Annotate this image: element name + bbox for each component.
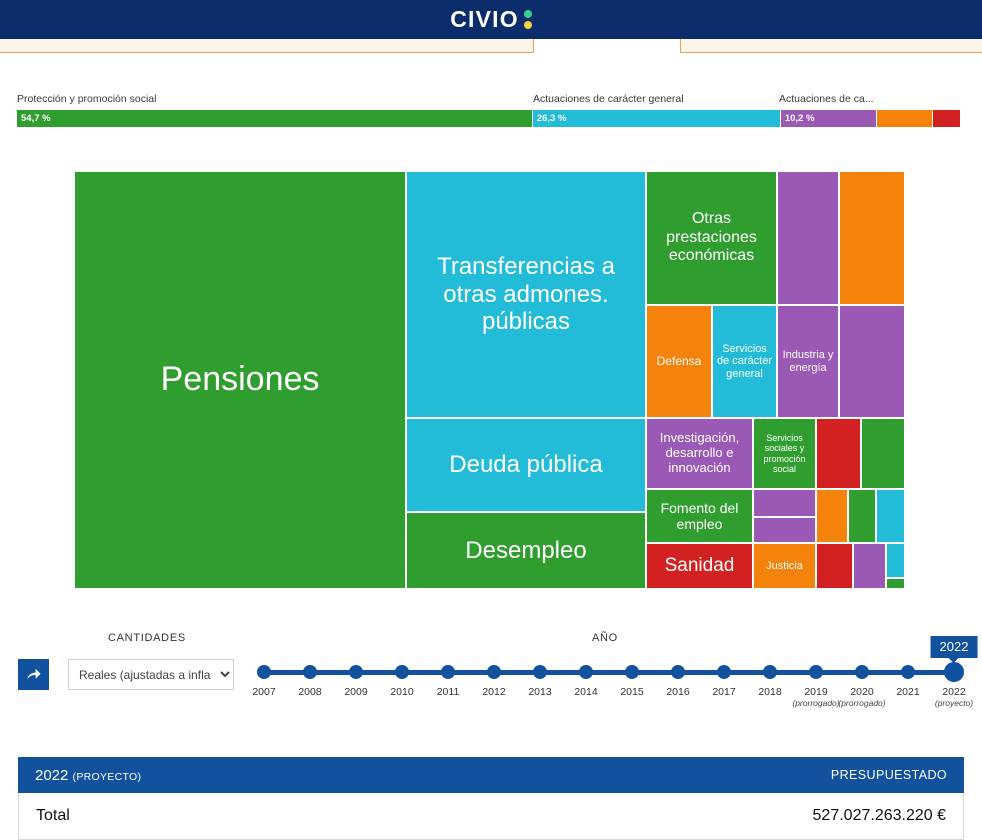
timeline-year-label-2022[interactable]: 2022(proyecto) (916, 686, 982, 708)
treemap-cell-label: Justicia (756, 560, 813, 573)
percent-segment-1[interactable]: 26,3 % (533, 110, 781, 127)
treemap-cell-investigaci-n-desarrollo-e-innovaci-n[interactable]: Investigación, desarrollo e innovación (646, 418, 753, 489)
percent-bar: 54,7 %26,3 %10,2 % (17, 110, 960, 127)
treemap-cell-servicios-de-car-cter-general[interactable]: Servicios de carácter general (712, 305, 777, 418)
percent-segment-value: 10,2 % (781, 113, 815, 124)
percent-bar-section: Protección y promoción socialActuaciones… (17, 93, 960, 127)
treemap-cell-justicia[interactable]: Justicia (753, 543, 816, 589)
timeline-dot-2018[interactable] (763, 665, 777, 679)
timeline-tooltip: 2022 (931, 636, 978, 658)
percent-bar-labels: Protección y promoción socialActuaciones… (17, 93, 960, 107)
treemap-cell-industria-y-energ-a[interactable]: Industria y energía (777, 305, 839, 418)
timeline-dot-2011[interactable] (441, 665, 455, 679)
treemap-cell-label: Servicios sociales y promoción social (756, 433, 813, 474)
summary-column-header: PRESUPUESTADO (831, 768, 947, 782)
treemap-cell-pensiones[interactable]: Pensiones (74, 171, 406, 589)
treemap-cell-label: Pensiones (77, 360, 403, 399)
treemap-cell-20[interactable] (876, 489, 905, 543)
timeline-dot-2012[interactable] (487, 665, 501, 679)
table-row[interactable]: Total527.027.263.220 € (18, 793, 964, 840)
treemap-cell-18[interactable] (816, 489, 848, 543)
timeline-track (264, 670, 954, 675)
treemap-cell-label: Transferencias a otras admones. públicas (409, 253, 643, 336)
civio-logo-text: CIVIO (450, 8, 519, 31)
timeline-dot-2021[interactable] (901, 665, 915, 679)
summary-year: 2022 (PROYECTO) (35, 767, 141, 784)
percent-label-2: Actuaciones de ca... (779, 93, 874, 105)
treemap-cell-label: Sanidad (649, 555, 750, 577)
share-arrow-icon (25, 666, 42, 683)
treemap-cell-otras-prestaciones-econ-micas[interactable]: Otras prestaciones económicas (646, 171, 777, 305)
table-row-amount: 527.027.263.220 € (813, 807, 946, 825)
tab-panel-left[interactable] (0, 39, 534, 53)
site-header: CIVIO (0, 0, 982, 39)
tab-panel-right[interactable] (680, 39, 982, 53)
treemap-cell-26[interactable] (886, 578, 905, 589)
timeline-dot-2010[interactable] (395, 665, 409, 679)
timeline-year-note: (prorrogado) (824, 698, 900, 708)
page-root: CIVIO Protección y promoción socialActua… (0, 0, 982, 840)
timeline-dot-2009[interactable] (349, 665, 363, 679)
treemap-chart: PensionesTransferencias a otras admones.… (74, 171, 905, 589)
share-button[interactable] (18, 659, 49, 690)
treemap-cell-label: Fomento del empleo (649, 500, 750, 532)
treemap-cell-servicios-sociales-y-promoci-n-social[interactable]: Servicios sociales y promoción social (753, 418, 816, 489)
summary-year-note: (PROYECTO) (73, 771, 142, 783)
summary-table-body: Total527.027.263.220 € (18, 793, 964, 840)
year-timeline[interactable]: 2007200820092010201120122013201420152016… (250, 636, 982, 716)
treemap-cell-16[interactable] (753, 489, 816, 517)
timeline-dot-2015[interactable] (625, 665, 639, 679)
treemap-cell-13[interactable] (816, 418, 861, 489)
cantidades-label: CANTIDADES (108, 632, 186, 644)
treemap-cell-24[interactable] (853, 543, 886, 589)
treemap-cell-label: Otras prestaciones económicas (649, 210, 774, 265)
treemap-cell-label: Desempleo (409, 537, 643, 565)
timeline-year-note: (proyecto) (916, 698, 982, 708)
percent-segment-2[interactable]: 10,2 % (781, 110, 877, 127)
treemap-cell-19[interactable] (848, 489, 876, 543)
treemap-cell-14[interactable] (861, 418, 905, 489)
treemap-cell-defensa[interactable]: Defensa (646, 305, 712, 418)
treemap-cell-25[interactable] (886, 543, 905, 578)
percent-segment-0[interactable]: 54,7 % (17, 110, 533, 127)
timeline-dot-2014[interactable] (579, 665, 593, 679)
treemap-cell-desempleo[interactable]: Desempleo (406, 512, 646, 589)
treemap-cell-label: Industria y energía (780, 349, 836, 374)
treemap-cell-fomento-del-empleo[interactable]: Fomento del empleo (646, 489, 753, 543)
summary-table: 2022 (PROYECTO) PRESUPUESTADO Total527.0… (18, 757, 964, 840)
percent-segment-value: 54,7 % (17, 113, 51, 124)
percent-segment-4[interactable] (933, 110, 960, 127)
percent-label-0: Protección y promoción social (17, 93, 156, 105)
tab-strip-row (0, 39, 982, 53)
percent-segment-value: 26,3 % (533, 113, 567, 124)
summary-table-header: 2022 (PROYECTO) PRESUPUESTADO (18, 757, 964, 793)
amount-type-select[interactable]: Reales (ajustadas a inflación)Nominales (68, 659, 234, 690)
timeline-dot-2016[interactable] (671, 665, 685, 679)
timeline-dot-2019[interactable] (809, 665, 823, 679)
treemap-cell-deuda-p-blica[interactable]: Deuda pública (406, 418, 646, 512)
timeline-dot-2013[interactable] (533, 665, 547, 679)
treemap-cell-17[interactable] (753, 517, 816, 543)
civio-logo-dots (524, 10, 532, 29)
yellow-dot-icon (524, 21, 532, 29)
timeline-dot-2017[interactable] (717, 665, 731, 679)
timeline-dot-2022[interactable] (944, 662, 964, 682)
treemap-cell-sanidad[interactable]: Sanidad (646, 543, 753, 589)
summary-year-value: 2022 (35, 767, 68, 784)
percent-label-1: Actuaciones de carácter general (533, 93, 684, 105)
timeline-dot-2008[interactable] (303, 665, 317, 679)
timeline-dot-2007[interactable] (257, 665, 271, 679)
timeline-dot-2020[interactable] (855, 665, 869, 679)
table-row-label: Total (36, 807, 70, 825)
treemap-cell-5[interactable] (777, 171, 839, 305)
treemap-cell-transferencias-a-otras-admones-p-blicas[interactable]: Transferencias a otras admones. públicas (406, 171, 646, 418)
treemap-cell-10[interactable] (839, 305, 905, 418)
treemap-cell-23[interactable] (816, 543, 853, 589)
green-dot-icon (524, 10, 532, 18)
treemap-cell-label: Deuda pública (409, 451, 643, 479)
civio-logo[interactable]: CIVIO (450, 8, 532, 31)
treemap-cell-label: Servicios de carácter general (715, 343, 774, 381)
treemap-cell-6[interactable] (839, 171, 905, 305)
treemap-cell-label: Defensa (649, 355, 709, 369)
percent-segment-3[interactable] (877, 110, 933, 127)
treemap-cell-label: Investigación, desarrollo e innovación (649, 431, 750, 476)
